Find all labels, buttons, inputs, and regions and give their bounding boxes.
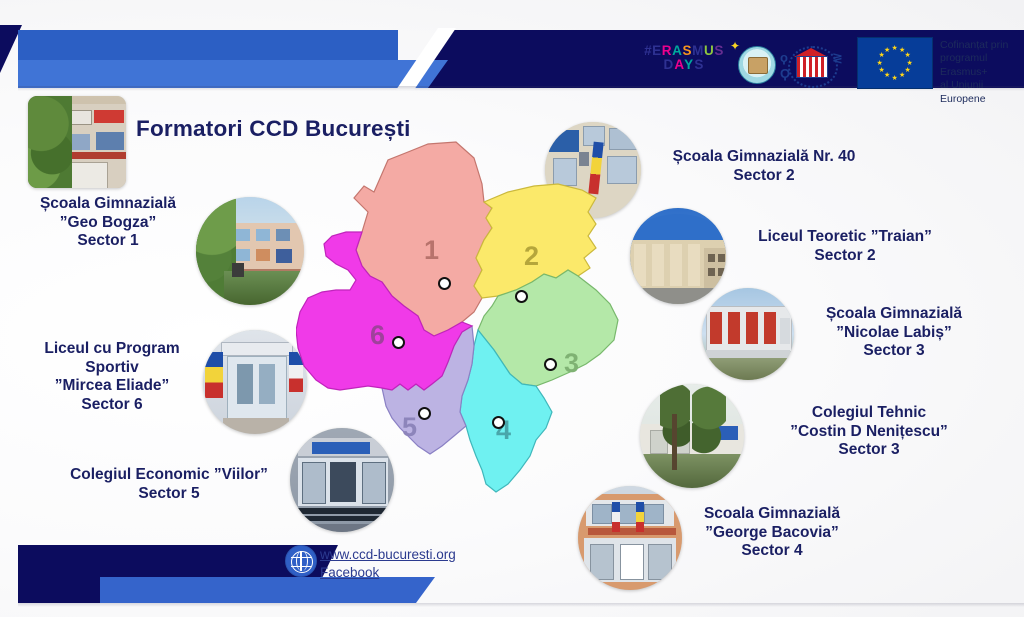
footer-stripes-decoration xyxy=(146,546,216,564)
erasmus-logo-line1: #ERASMUS xyxy=(636,44,732,58)
school-photo-geo-bogza xyxy=(196,197,304,305)
school-photo-nicolae-labis xyxy=(702,288,794,380)
school-label-mircea-eliade: Liceul cu Program Sportiv ”Mircea Eliade… xyxy=(16,340,208,414)
map-sector-number-3: 3 xyxy=(564,348,579,379)
map-sector-marker-1[interactable] xyxy=(438,277,451,290)
map-sector-marker-2[interactable] xyxy=(515,290,528,303)
eu-star-icon: ★ xyxy=(904,67,910,74)
school-label-nicolae-labis: Școala Gimnazială ”Nicolae Labiș” Sector… xyxy=(796,305,992,361)
header-banner: #ERASMUS DAYS ✦ ϙ Ϙ ≷ ★★★★★★★★★★★★ Cofin… xyxy=(0,0,1024,104)
website-link[interactable]: www.ccd-bucuresti.org xyxy=(320,546,540,564)
eu-star-icon: ★ xyxy=(877,60,883,67)
ccd-bucuresti-building-photo xyxy=(28,96,126,188)
facebook-link[interactable]: Facebook xyxy=(320,564,540,582)
erasmus-logo-line2: DAYS xyxy=(636,58,732,72)
eu-star-icon: ★ xyxy=(907,60,913,67)
eu-star-icon: ★ xyxy=(892,75,898,82)
map-sector-number-1: 1 xyxy=(424,235,439,266)
header-blue-band-lower xyxy=(18,60,448,88)
school-label-liceul-traian: Liceul Teoretic ”Traian” Sector 2 xyxy=(730,228,960,265)
eu-star-icon: ★ xyxy=(899,72,905,79)
footer-shadow xyxy=(18,603,1024,607)
footer-links: www.ccd-bucuresti.org Facebook xyxy=(320,546,540,582)
map-sector-marker-4[interactable] xyxy=(492,416,505,429)
school-label-geo-bogza: Școala Gimnazială ”Geo Bogza” Sector 1 xyxy=(18,195,198,251)
map-sector-marker-6[interactable] xyxy=(392,336,405,349)
school-label-costin-nenitescu: Colegiul Tehnic ”Costin D Nenițescu” Sec… xyxy=(754,404,984,460)
eu-text-line2: programul Erasmus+ xyxy=(940,52,1024,79)
map-sector-marker-5[interactable] xyxy=(418,407,431,420)
erasmus-days-logo: #ERASMUS DAYS ✦ xyxy=(636,44,732,84)
map-svg xyxy=(296,140,626,530)
map-sector-number-5: 5 xyxy=(402,412,417,443)
slide-canvas: #ERASMUS DAYS ✦ ϙ Ϙ ≷ ★★★★★★★★★★★★ Cofin… xyxy=(0,0,1024,617)
map-sector-number-6: 6 xyxy=(370,320,385,351)
eu-star-icon: ★ xyxy=(892,45,898,52)
eu-text-line1: Cofinanțat prin xyxy=(940,39,1024,52)
eu-funding-text: Cofinanțat prin programul Erasmus+ al Un… xyxy=(940,39,1024,106)
school-photo-mircea-eliade xyxy=(203,330,307,434)
ministry-seal-icon xyxy=(738,46,776,84)
national-agency-logo-icon: ϙ Ϙ ≷ xyxy=(780,44,842,86)
school-label-colegiul-economic-viilor: Colegiul Economic ”Viilor” Sector 5 xyxy=(36,466,302,503)
eu-star-icon: ★ xyxy=(879,67,885,74)
sparkle-icon: ✦ xyxy=(730,40,740,53)
map-sector-marker-3[interactable] xyxy=(544,358,557,371)
globe-icon xyxy=(285,545,317,577)
map-sector-number-2: 2 xyxy=(524,241,539,272)
school-photo-costin-nenitescu xyxy=(640,384,744,488)
eu-star-icon: ★ xyxy=(884,47,890,54)
eu-star-icon: ★ xyxy=(904,52,910,59)
school-label-scoala-40: Școala Gimnazială Nr. 40 Sector 2 xyxy=(638,148,890,185)
bucharest-sectors-map: 123456 xyxy=(296,140,626,530)
eu-text-line3: al Uniunii Europene xyxy=(940,79,1024,106)
eu-flag-icon: ★★★★★★★★★★★★ xyxy=(857,37,933,89)
page-title: Formatori CCD București xyxy=(136,116,411,142)
header-blue-band-upper xyxy=(18,30,398,60)
